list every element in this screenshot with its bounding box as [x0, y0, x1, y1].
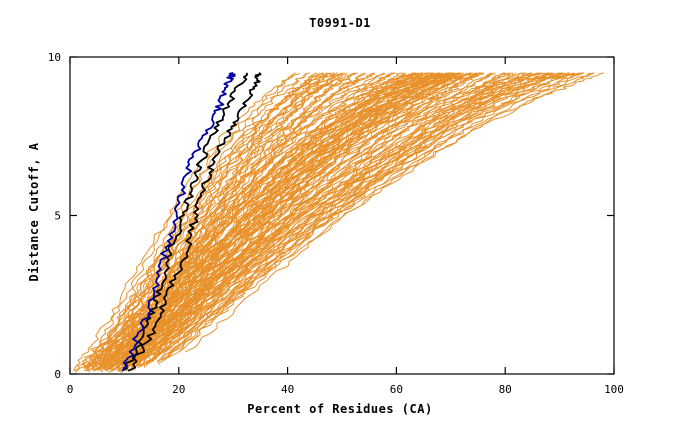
y-tick-label: 5 — [54, 210, 61, 223]
x-tick-label: 100 — [604, 383, 624, 396]
x-tick-label: 0 — [67, 383, 74, 396]
y-tick-label: 0 — [54, 368, 61, 381]
plot-area: 0204060801000510 — [0, 0, 680, 440]
x-tick-label: 40 — [281, 383, 294, 396]
x-tick-label: 80 — [499, 383, 512, 396]
y-axis-label: Distance Cutoff, A — [27, 92, 41, 332]
x-tick-label: 20 — [172, 383, 185, 396]
x-tick-label: 60 — [390, 383, 403, 396]
x-axis-label: Percent of Residues (CA) — [0, 402, 680, 416]
y-tick-label: 10 — [48, 51, 61, 64]
series-group — [73, 73, 603, 373]
chart-container: T0991-D1 0204060801000510 Percent of Res… — [0, 0, 680, 440]
